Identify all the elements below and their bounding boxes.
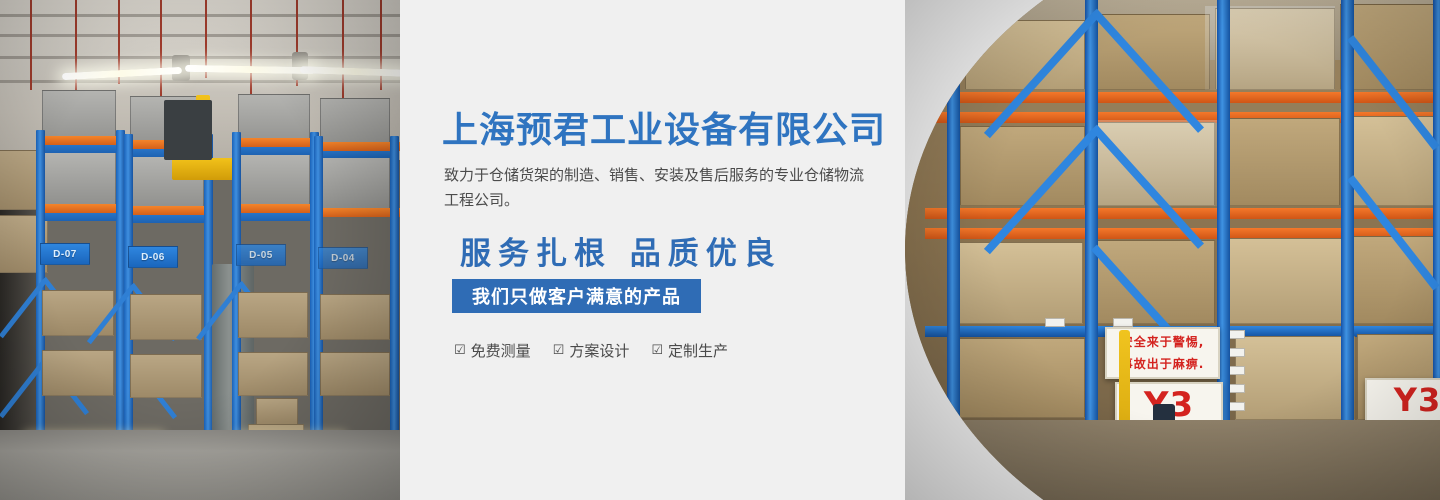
promo-banner: D-07 D-06: [0, 0, 1440, 500]
feature-item-free-measurement: ☑ 免费测量: [454, 340, 531, 361]
ceiling-beam: [0, 56, 400, 59]
stacked-totes: [42, 152, 116, 210]
check-box-icon: ☑: [553, 344, 565, 357]
feature-label: 方案设计: [569, 340, 629, 361]
shelf-label: [1113, 318, 1133, 327]
left-photo-scene: D-07 D-06: [0, 0, 400, 500]
pallet-load: [130, 294, 202, 340]
pallet-carton: [955, 338, 1085, 418]
pallet-load: [320, 352, 390, 396]
rack-label-d07: D-07: [40, 243, 90, 265]
rack-beam-orange: [314, 142, 400, 151]
rack-label-d05: D-05: [236, 244, 286, 266]
company-tagline: 致力于仓储货架的制造、销售、安装及售后服务的专业仓储物流工程公司。: [444, 163, 864, 213]
right-warehouse-photo: 安全来于警惕, 事故出于麻痹. Y3 Y3: [905, 0, 1440, 500]
pallet-load: [238, 292, 308, 338]
rack-upright: [1085, 0, 1098, 470]
rack-label-d04: D-04: [318, 247, 368, 269]
rack-beam-orange: [314, 208, 400, 217]
rack-beam-orange: [124, 206, 212, 215]
forklift-carriage: [172, 158, 234, 180]
check-box-icon: ☑: [651, 344, 663, 357]
ceiling-rod: [75, 0, 77, 100]
feature-label: 免费测量: [471, 340, 531, 361]
rack-beam-orange: [232, 138, 318, 147]
warehouse-floor: [0, 430, 400, 500]
rack-label-d06: D-06: [128, 246, 178, 268]
feature-item-custom-production: ☑ 定制生产: [651, 340, 728, 361]
pallet-carton: [1235, 336, 1355, 420]
ceiling-rod: [380, 0, 382, 90]
warehouse-floor: [905, 420, 1440, 500]
right-photo-scene: 安全来于警惕, 事故出于麻痹. Y3 Y3: [905, 0, 1440, 500]
feature-item-scheme-design: ☑ 方案设计: [553, 340, 630, 361]
floor-carton: [256, 398, 298, 426]
left-warehouse-photo: D-07 D-06: [0, 0, 400, 500]
company-slogan: 服务扎根 品质优良: [460, 228, 782, 273]
ceiling-rod: [342, 0, 344, 100]
rack-beam-orange: [36, 136, 124, 145]
ceiling-beam: [0, 34, 400, 37]
feature-label: 定制生产: [668, 340, 728, 361]
forklift-cab: [164, 100, 212, 160]
rack-beam-orange: [232, 204, 318, 213]
rack-upright: [947, 0, 960, 470]
safety-sign-line-2: 事故出于麻痹.: [1121, 353, 1205, 375]
pallet-carton: [1220, 238, 1342, 324]
pallet-carton: [965, 20, 1085, 90]
safety-sign-line-1: 安全来于警惕,: [1121, 331, 1205, 353]
ceiling-beam: [0, 14, 400, 17]
pallet-load: [42, 290, 114, 336]
pallet-load: [238, 352, 308, 396]
rack-beam: [925, 208, 1440, 219]
aisle-sign-text: Y3: [1394, 383, 1440, 417]
stacked-totes: [320, 156, 390, 210]
company-title: 上海预君工业设备有限公司: [442, 101, 886, 153]
right-photo-circular-mask: 安全来于警惕, 事故出于麻痹. Y3 Y3: [905, 0, 1440, 500]
aisle-sign-y3-secondary: Y3: [1365, 378, 1440, 422]
rack-beam-orange: [36, 204, 124, 213]
shelf-label: [1045, 318, 1065, 327]
rack-upright: [390, 136, 399, 456]
ceiling-rod: [160, 0, 162, 96]
ceiling-beam: [0, 80, 400, 83]
pallet-carton: [955, 242, 1083, 324]
ceiling-rod: [30, 0, 32, 90]
stacked-totes: [238, 154, 310, 210]
pallet-load: [130, 354, 202, 398]
banner-content: 上海预君工业设备有限公司 致力于仓储货架的制造、销售、安装及售后服务的专业仓储物…: [440, 0, 910, 500]
rack-upright: [1341, 0, 1354, 470]
pallet-load: [42, 350, 114, 396]
feature-list: ☑ 免费测量 ☑ 方案设计 ☑ 定制生产: [454, 340, 728, 361]
check-box-icon: ☑: [454, 344, 466, 357]
pallet-carton: [1220, 118, 1340, 206]
pallet-load: [320, 294, 390, 340]
ceiling-rod: [250, 0, 252, 94]
promise-badge: 我们只做客户满意的产品: [452, 279, 701, 313]
